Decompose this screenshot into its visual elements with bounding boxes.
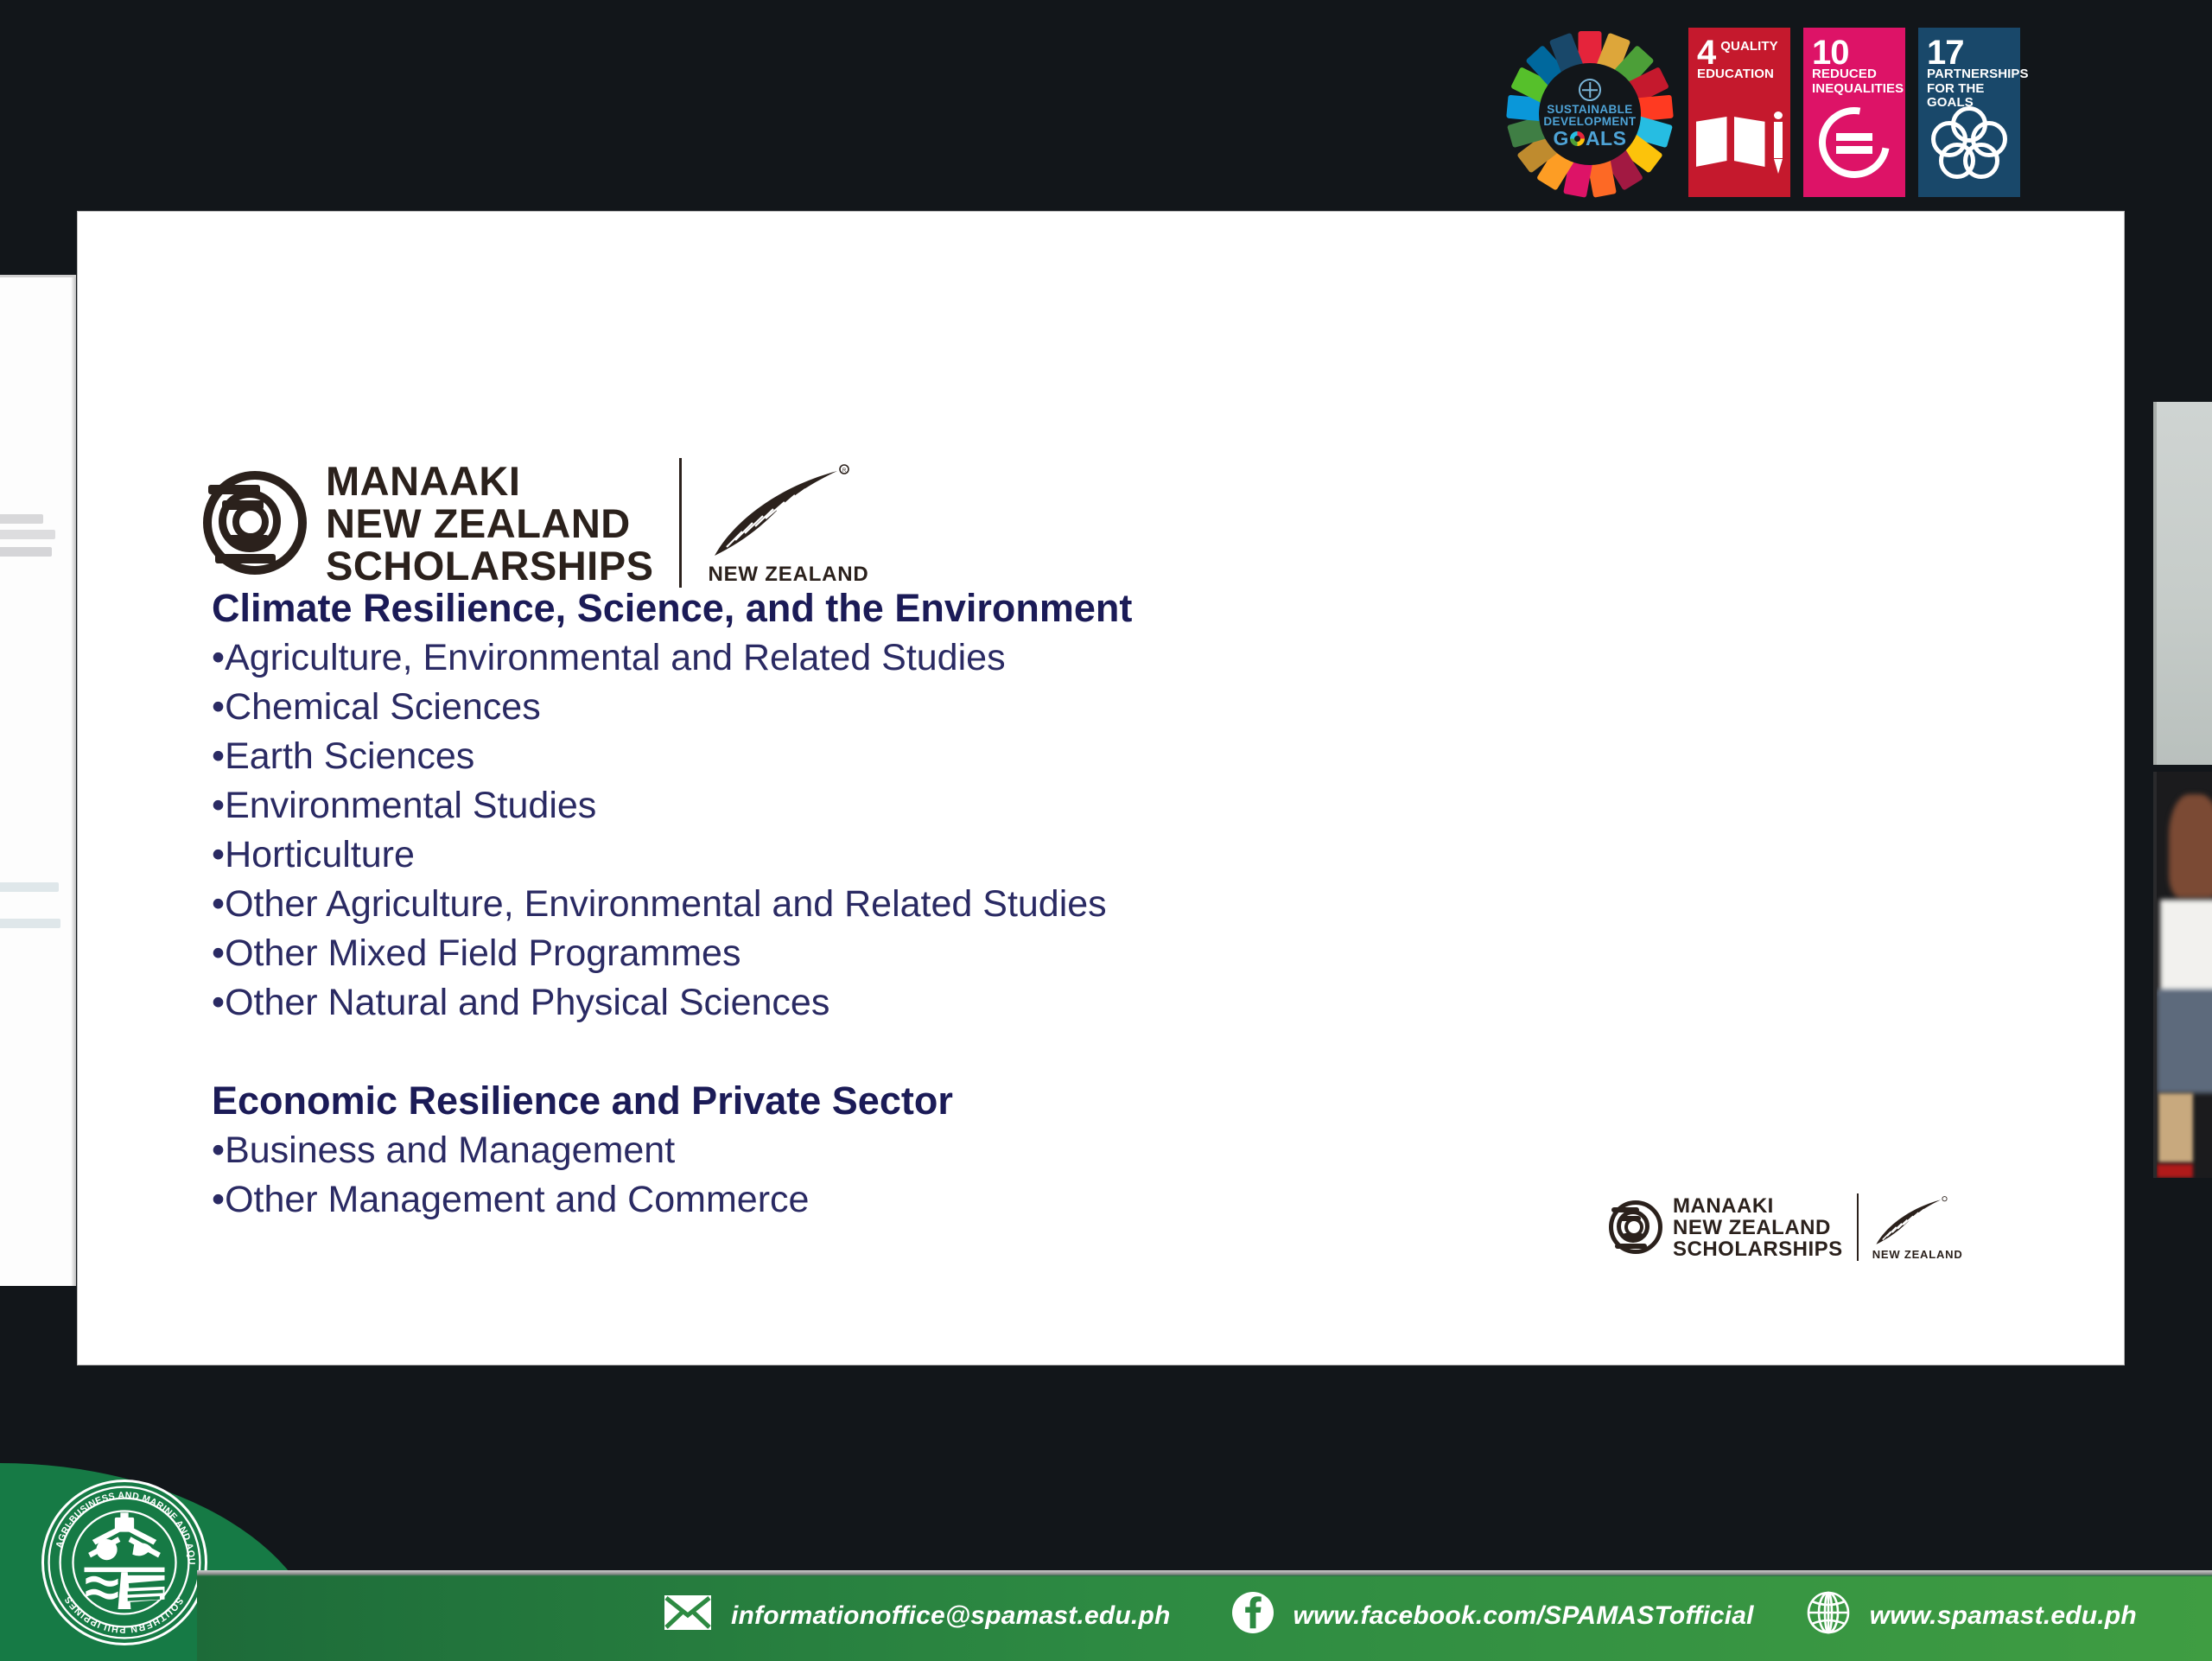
sdg-card-4: 4 QUALITY EDUCATION — [1688, 28, 1790, 197]
equal-sign-in-ring-icon — [1803, 102, 1905, 183]
list-item: • Other Agriculture, Environmental and R… — [212, 880, 2046, 929]
logo-divider — [1857, 1193, 1859, 1261]
list-item: • Environmental Studies — [212, 781, 2046, 830]
participant-background-object — [2157, 1164, 2193, 1178]
sdg-badge-strip: SUSTAINABLE DEVELOPMENT GALS 4 QUALITY E… — [1505, 28, 2033, 200]
sdg-number: 10 — [1812, 38, 1849, 67]
list-item-label: Other Agriculture, Environmental and Rel… — [225, 880, 1107, 929]
bullet-glyph: • — [212, 1126, 225, 1175]
footer-top-highlight — [197, 1570, 2212, 1576]
logo-divider — [679, 458, 682, 588]
sdg-card-10: 10 REDUCED INEQUALITIES — [1803, 28, 1905, 197]
manaaki-wordmark: MANAAKI NEW ZEALAND SCHOLARSHIPS — [326, 460, 653, 587]
contact-footer-bar: informationoffice@spamast.edu.ph www.fac… — [197, 1570, 2212, 1661]
list-item: • Other Natural and Physical Sciences — [212, 978, 2046, 1028]
koru-spiral-icon — [203, 471, 307, 575]
silver-fern-icon: R — [708, 464, 855, 559]
group-heading: Economic Resilience and Private Sector — [212, 1076, 2046, 1126]
sdg-wheel-hub: SUSTAINABLE DEVELOPMENT GALS — [1539, 63, 1641, 165]
sdg-number: 17 — [1927, 38, 1964, 67]
wordmark-line3: SCHOLARSHIPS — [1673, 1238, 1843, 1260]
bullet-glyph: • — [212, 633, 225, 683]
participant-video-tile[interactable] — [2153, 772, 2212, 1178]
nz-fern-lockup: NEW ZEALAND — [1872, 1193, 1963, 1261]
list-item-label: Horticulture — [225, 830, 415, 880]
participant-background-object — [2158, 1093, 2193, 1162]
footer-facebook-label: www.facebook.com/SPAMASTofficial — [1294, 1601, 1754, 1631]
koru-spiral-icon — [1609, 1200, 1662, 1254]
participant-torso — [2160, 900, 2212, 995]
participant-desk — [2157, 990, 2212, 1093]
presentation-slide[interactable]: MANAAKI NEW ZEALAND SCHOLARSHIPS R — [78, 212, 2124, 1365]
footer-email-label: informationoffice@spamast.edu.ph — [731, 1601, 1171, 1631]
pencil-icon — [1773, 111, 1783, 174]
doc-text-line — [0, 530, 55, 539]
bullet-glyph: • — [212, 683, 225, 732]
wordmark-line2: NEW ZEALAND — [1673, 1217, 1843, 1238]
bullet-glyph: • — [212, 1175, 225, 1225]
open-book-and-pencil-icon — [1688, 102, 1790, 183]
nz-fern-lockup: R NEW ZEALAND — [708, 459, 868, 587]
five-interlocking-circles-icon — [1918, 102, 2020, 183]
bullet-glyph: • — [212, 830, 225, 880]
list-item: • Earth Sciences — [212, 732, 2046, 781]
svg-text:R: R — [842, 468, 847, 474]
participant-video-tile[interactable] — [2153, 402, 2212, 765]
footer-facebook[interactable]: www.facebook.com/SPAMASTofficial — [1231, 1591, 1754, 1641]
screen-share-stage: SUSTAINABLE DEVELOPMENT GALS 4 QUALITY E… — [0, 0, 2212, 1661]
footer-website-label: www.spamast.edu.ph — [1870, 1601, 2137, 1631]
sdg-number: 4 — [1697, 38, 1715, 67]
goals-o-ring-icon — [1570, 131, 1585, 146]
un-emblem-icon — [1579, 79, 1601, 101]
list-item-label: Other Management and Commerce — [225, 1175, 809, 1225]
wordmark-line1: MANAAKI — [1673, 1195, 1843, 1217]
sdg-wheel-line2: DEVELOPMENT — [1543, 116, 1636, 128]
content-group: Climate Resilience, Science, and the Env… — [212, 583, 2046, 1028]
doc-text-line — [0, 919, 60, 928]
sdg-wheel-goals: GALS — [1554, 128, 1627, 150]
bullet-glyph: • — [212, 880, 225, 929]
book-icon — [1696, 117, 1765, 169]
list-item-label: Earth Sciences — [225, 732, 474, 781]
list-item-label: Other Mixed Field Programmes — [225, 929, 741, 978]
bullet-list: • Agriculture, Environmental and Related… — [212, 633, 2046, 1028]
wordmark-line2: NEW ZEALAND — [326, 502, 653, 544]
doc-text-line — [0, 882, 59, 892]
nz-fern-label: NEW ZEALAND — [1872, 1248, 1963, 1261]
sdg-label-line2: INEQUALITIES — [1812, 82, 1897, 97]
list-item: • Business and Management — [212, 1126, 2046, 1175]
sdg-wheel-logo: SUSTAINABLE DEVELOPMENT GALS — [1505, 28, 1675, 200]
wordmark-line1: MANAAKI — [326, 460, 653, 502]
wordmark-line3: SCHOLARSHIPS — [326, 544, 653, 587]
bullet-glyph: • — [212, 732, 225, 781]
list-item: • Chemical Sciences — [212, 683, 2046, 732]
background-document-window[interactable] — [0, 275, 76, 1286]
bullet-glyph: • — [212, 978, 225, 1028]
list-item: • Other Mixed Field Programmes — [212, 929, 2046, 978]
bullet-glyph: • — [212, 929, 225, 978]
bullet-glyph: • — [212, 781, 225, 830]
sdg-wheel-line1: SUSTAINABLE — [1547, 104, 1632, 116]
slide-content: Climate Resilience, Science, and the Env… — [212, 583, 2046, 1225]
participant-head — [2169, 794, 2212, 898]
list-item-label: Environmental Studies — [225, 781, 596, 830]
goals-suffix: ALS — [1586, 128, 1627, 150]
list-item: • Agriculture, Environmental and Related… — [212, 633, 2046, 683]
facebook-icon — [1231, 1591, 1274, 1641]
sdg-card-17: 17 PARTNERSHIPS FOR THE GOALS — [1918, 28, 2020, 197]
list-item-label: Agriculture, Environmental and Related S… — [225, 633, 1006, 683]
goals-prefix: G — [1554, 128, 1569, 150]
globe-icon — [1806, 1590, 1851, 1642]
doc-text-line — [0, 514, 43, 524]
list-item-label: Chemical Sciences — [225, 683, 541, 732]
footer-email[interactable]: informationoffice@spamast.edu.ph — [664, 1594, 1171, 1638]
list-item-label: Other Natural and Physical Sciences — [225, 978, 829, 1028]
manaaki-wordmark: MANAAKI NEW ZEALAND SCHOLARSHIPS — [1673, 1195, 1843, 1260]
doc-text-line — [0, 547, 52, 557]
email-icon — [664, 1594, 712, 1638]
circles-group — [1931, 106, 2007, 179]
doc-edge-shadow — [71, 277, 76, 1286]
list-item-label: Business and Management — [225, 1126, 675, 1175]
silver-fern-icon — [1872, 1196, 1950, 1246]
manaaki-logo-secondary: MANAAKI NEW ZEALAND SCHOLARSHIPS — [1609, 1193, 1963, 1261]
list-item: • Horticulture — [212, 830, 2046, 880]
spamast-seal: AGRI-BUSINESS AND MARINE AND AQUATIC SCH… — [41, 1480, 207, 1645]
manaaki-logo-primary: MANAAKI NEW ZEALAND SCHOLARSHIPS R — [203, 458, 869, 588]
group-heading: Climate Resilience, Science, and the Env… — [212, 583, 2046, 633]
footer-website[interactable]: www.spamast.edu.ph — [1806, 1590, 2137, 1642]
